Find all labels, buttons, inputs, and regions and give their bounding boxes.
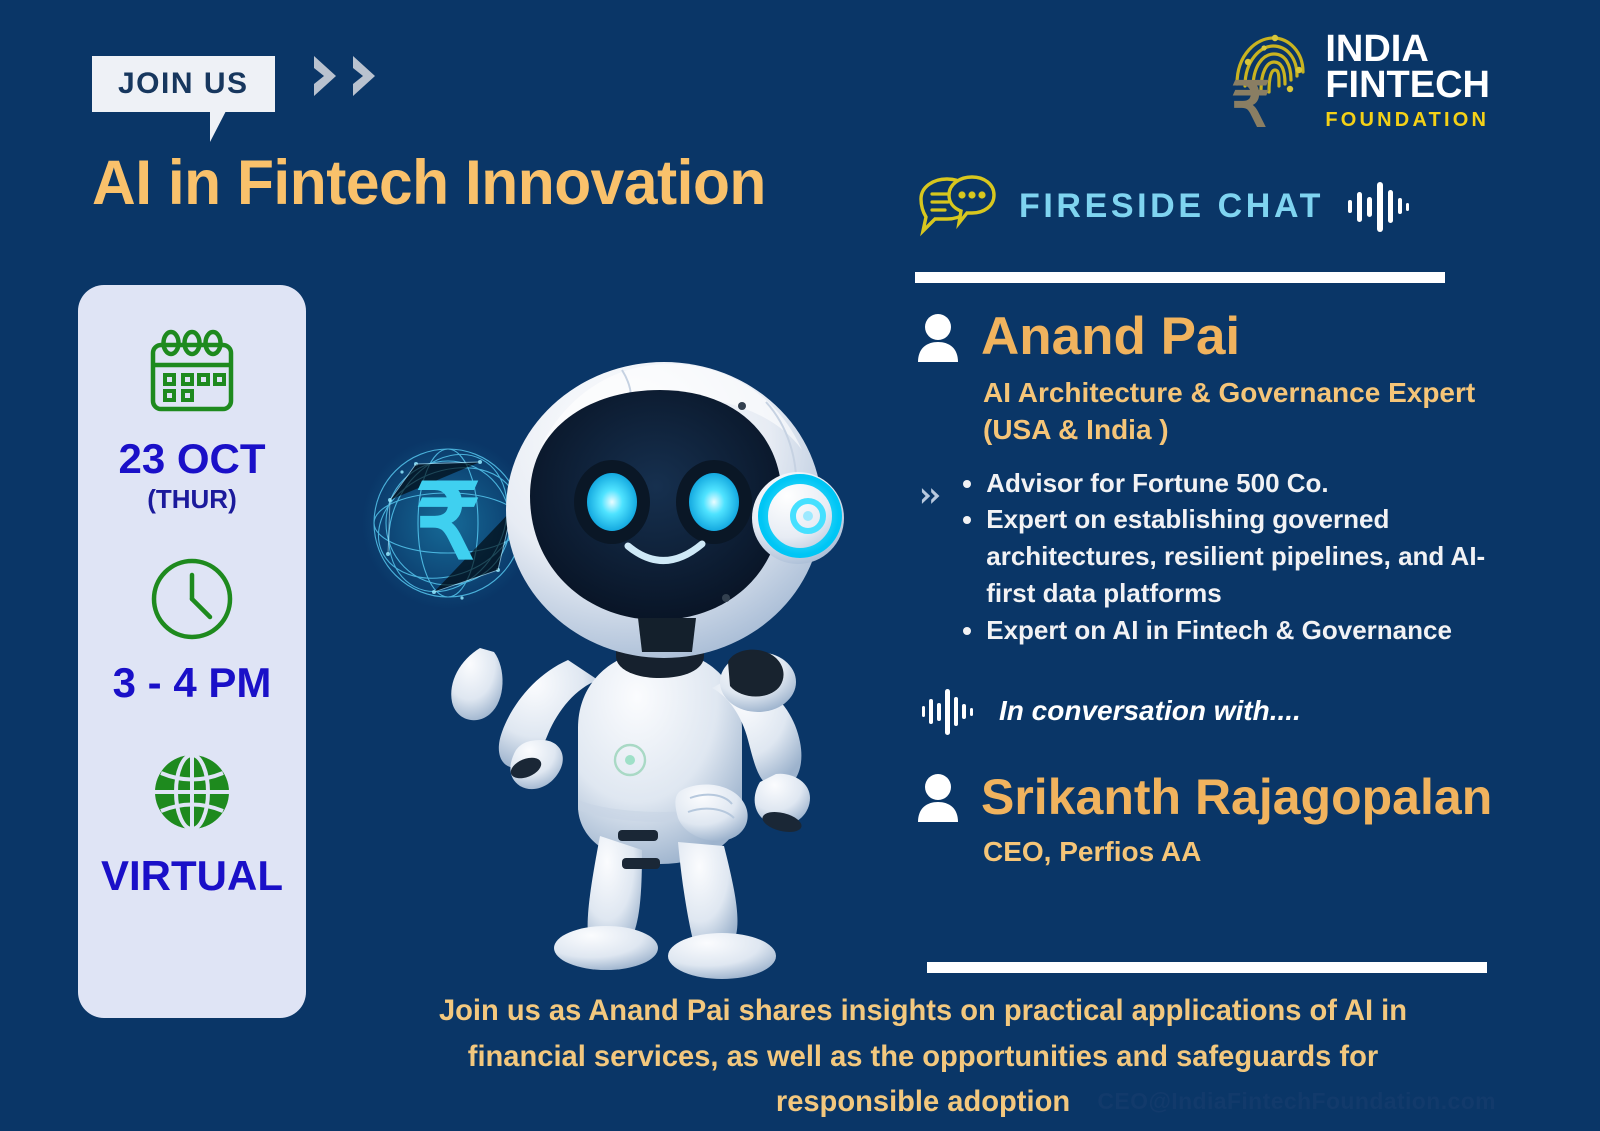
robot-ear [752, 472, 844, 564]
brand-logo: ₹ INDIA FINTECH FOUNDATION [1227, 26, 1490, 136]
robot-eye-left [587, 473, 637, 531]
contact-email[interactable]: CEO@IndiaFintechFoundation.com [1097, 1088, 1496, 1115]
event-time: 3 - 4 PM [113, 662, 272, 704]
speaker-primary: Anand Pai [915, 309, 1515, 365]
highlight-list: Advisor for Fortune 500 Co. Expert on es… [960, 465, 1515, 650]
robot-head [506, 362, 844, 658]
double-chevron-right-icon [921, 477, 942, 515]
event-date: 23 OCT [118, 438, 265, 480]
logo-line-india: INDIA [1325, 32, 1490, 68]
right-column: FIRESIDE CHAT Anand Pai [915, 170, 1515, 871]
event-details-card: 23 OCT (THUR) 3 - 4 PM [78, 285, 306, 1018]
robot-neck [638, 618, 696, 652]
speaker-secondary: Srikanth Rajagopalan [915, 771, 1515, 824]
audio-waveform-icon [1346, 178, 1410, 234]
header-chevrons [310, 54, 383, 98]
speech-bubble-tail [210, 111, 240, 142]
conversation-lead-in: In conversation with.... [921, 685, 1515, 737]
list-item: Advisor for Fortune 500 Co. [986, 465, 1515, 502]
speaker-secondary-name: Srikanth Rajagopalan [981, 771, 1492, 824]
speaker-primary-title: AI Architecture & Governance Expert (USA… [983, 375, 1515, 449]
event-poster: JOIN US AI in Fintech Innovation [0, 0, 1600, 1131]
join-us-label: JOIN US [92, 56, 275, 112]
logo-line-foundation: FOUNDATION [1325, 111, 1490, 130]
ai-robot-illustration: ₹ [330, 330, 890, 980]
fireside-chat-header: FIRESIDE CHAT [915, 170, 1515, 242]
robot-eye-right [689, 473, 739, 531]
fireside-chat-label: FIRESIDE CHAT [1019, 187, 1324, 226]
time-block: 3 - 4 PM [113, 553, 272, 704]
person-icon [915, 312, 961, 362]
date-block: 23 OCT (THUR) [118, 329, 265, 515]
chevron-right-icon [349, 54, 383, 98]
list-item: Expert on establishing governed architec… [986, 501, 1515, 612]
divider-top [915, 272, 1445, 283]
svg-text:₹: ₹ [1231, 71, 1270, 136]
join-us-badge: JOIN US [92, 56, 275, 112]
robot-left-arm [451, 648, 598, 789]
speaker-secondary-title: CEO, Perfios AA [983, 834, 1515, 871]
speaker-primary-title-line2: (USA & India ) [983, 412, 1515, 449]
clock-icon [146, 553, 238, 650]
conversation-text: In conversation with.... [999, 695, 1301, 727]
person-icon [915, 772, 961, 822]
list-item: Expert on AI in Fintech & Governance [986, 612, 1515, 649]
chat-bubbles-icon [915, 175, 997, 237]
mode-block: VIRTUAL [101, 746, 283, 897]
logo-line-fintech: FINTECH [1325, 68, 1490, 104]
page-title: AI in Fintech Innovation [92, 152, 766, 215]
svg-text:₹: ₹ [415, 465, 481, 581]
speaker-primary-name: Anand Pai [981, 309, 1240, 365]
divider-bottom [927, 962, 1487, 973]
chevron-right-icon [310, 54, 344, 98]
audio-waveform-icon [921, 685, 977, 737]
event-mode: VIRTUAL [101, 855, 283, 897]
globe-icon [146, 746, 238, 843]
event-day: (THUR) [147, 484, 237, 515]
calendar-icon [140, 329, 244, 426]
speaker-primary-title-line1: AI Architecture & Governance Expert [983, 375, 1515, 412]
speaker-primary-highlights: Advisor for Fortune 500 Co. Expert on es… [921, 465, 1515, 650]
fingerprint-rupee-icon: ₹ [1227, 26, 1311, 136]
